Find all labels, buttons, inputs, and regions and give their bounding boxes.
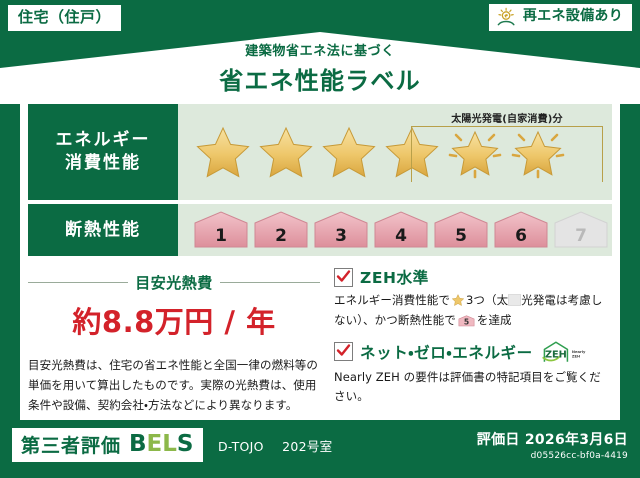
cost-heading: 目安光熱費	[135, 272, 213, 293]
svg-text:ZEH: ZEH	[572, 354, 580, 358]
star-2	[255, 121, 317, 183]
insulation-scale: 1 2 3	[178, 209, 610, 251]
net-zero-title: ネット・ゼロ・エネルギー	[360, 341, 533, 363]
check-icon	[336, 343, 351, 358]
cost-value: 約8.8万円 / 年	[28, 299, 320, 341]
room-number: 202号室	[282, 439, 332, 454]
bels-logo-s: S	[177, 431, 194, 457]
redacted-character	[508, 294, 521, 306]
insulation-level-2: 2	[252, 209, 310, 251]
insulation-row-body: 1 2 3	[178, 204, 612, 256]
insulation-level-4: 4	[372, 209, 430, 251]
insulation-level-1: 1	[192, 209, 250, 251]
star-5-solar	[444, 121, 506, 183]
energy-label-line2: 消費性能	[65, 152, 141, 175]
star-1	[192, 121, 254, 183]
net-zero-block: ネット・ゼロ・エネルギー ZEH Nearly ZEH Nearly ZEH の…	[334, 339, 612, 408]
net-zero-heading: ネット・ゼロ・エネルギー ZEH Nearly ZEH	[334, 339, 612, 365]
renewable-badge-label: 再エネ設備あり	[523, 9, 623, 24]
svg-text:Nearly: Nearly	[572, 349, 586, 353]
energy-row-label: エネルギー 消費性能	[28, 104, 178, 200]
star-4	[381, 121, 443, 183]
net-zero-checkbox[interactable]	[334, 342, 353, 361]
zeh-desc-stars: 3つ（太	[466, 293, 508, 307]
insulation-level-4-number: 4	[372, 226, 430, 246]
bels-logo: BELS	[129, 433, 193, 456]
cost-column: 目安光熱費 約8.8万円 / 年 目安光熱費は、住宅の省エネ性能と全国一律の燃料…	[28, 266, 326, 416]
star-icon	[192, 121, 254, 183]
title-block: 建築物省エネ法に基づく 省エネ性能ラベル	[0, 40, 640, 96]
insulation-level-7-number: 7	[552, 226, 610, 246]
zeh-level-checkbox[interactable]	[334, 268, 353, 287]
energy-row-body: 太陽光発電(自家消費)分	[178, 104, 612, 200]
zeh-desc-part3: を達成	[477, 313, 512, 327]
net-zero-description: Nearly ZEH の要件は評価書の特記項目をご覧ください。	[334, 368, 612, 408]
insulation-level-7: 7	[552, 209, 610, 251]
property-info: D-TOJO 202号室	[218, 436, 332, 455]
star-icon	[381, 121, 443, 183]
energy-label-document: 住宅（住戸） 再エネ設備あり 建築物省エネ法に基づく 省エネ性能ラベル	[0, 0, 640, 478]
insulation-level-6: 6	[492, 209, 550, 251]
inline-house-badge: 5	[458, 317, 475, 331]
evaluation-id: d05526cc-bf0a-4419	[477, 451, 628, 461]
page-title: 省エネ性能ラベル	[0, 61, 640, 96]
energy-label-line1: エネルギー	[56, 129, 151, 152]
footer-bar: 第三者評価 BELS D-TOJO 202号室 評価日 2026年3月6日 d0…	[0, 420, 640, 478]
evaluation-info: 評価日 2026年3月6日 d05526cc-bf0a-4419	[477, 429, 628, 461]
zeh-desc-part1: エネルギー消費性能で	[334, 293, 450, 307]
insulation-row-label: 断熱性能	[28, 204, 178, 256]
zeh-level-title: ZEH水準	[360, 266, 429, 288]
sun-icon-svg	[496, 7, 518, 27]
star-icon	[318, 121, 380, 183]
cost-heading-row: 目安光熱費	[28, 272, 320, 293]
svg-text:ZEH: ZEH	[545, 349, 567, 360]
svg-text:5: 5	[464, 317, 469, 326]
title-subtitle: 建築物省エネ法に基づく	[0, 40, 640, 59]
zeh-logo: ZEH Nearly ZEH	[540, 339, 586, 365]
star-rating	[178, 121, 569, 183]
zeh-column: ZEH水準 エネルギー消費性能で3つ（太光発電は考慮しない）、かつ断熱性能で5を…	[326, 266, 612, 416]
insulation-performance-row: 断熱性能 1	[28, 200, 612, 256]
insulation-level-3-number: 3	[312, 226, 370, 246]
star-solar-icon	[507, 121, 569, 183]
cost-rule-left	[28, 282, 128, 283]
inline-star-icon	[451, 293, 465, 307]
star-3	[318, 121, 380, 183]
insulation-level-5: 5	[432, 209, 490, 251]
details-section: 目安光熱費 約8.8万円 / 年 目安光熱費は、住宅の省エネ性能と全国一律の燃料…	[28, 266, 612, 416]
cost-disclaimer: 目安光熱費は、住宅の省エネ性能と全国一律の燃料等の単価を用いて算出したものです。…	[28, 355, 320, 415]
star-icon	[255, 121, 317, 183]
zeh-level-heading: ZEH水準	[334, 266, 612, 288]
property-name: D-TOJO	[218, 439, 264, 454]
renewable-equipment-badge: 再エネ設備あり	[489, 4, 632, 31]
insulation-level-3: 3	[312, 209, 370, 251]
zeh-level-block: ZEH水準 エネルギー消費性能で3つ（太光発電は考慮しない）、かつ断熱性能で5を…	[334, 266, 612, 335]
zeh-logo-icon: ZEH Nearly ZEH	[540, 339, 586, 365]
bels-jp-label: 第三者評価	[21, 431, 121, 458]
inline-house-icon: 5	[458, 314, 475, 328]
energy-performance-row: エネルギー 消費性能	[28, 98, 612, 200]
bels-logo-el: EL	[147, 431, 177, 457]
house-type-badge: 住宅（住戸）	[8, 5, 121, 31]
check-icon	[336, 269, 351, 284]
cost-rule-right	[220, 282, 320, 283]
sun-icon	[496, 7, 518, 27]
star-solar-icon	[444, 121, 506, 183]
evaluation-date: 評価日 2026年3月6日	[477, 429, 628, 449]
bels-badge: 第三者評価 BELS	[12, 428, 203, 462]
insulation-level-6-number: 6	[492, 226, 550, 246]
insulation-level-1-number: 1	[192, 226, 250, 246]
star-6-solar	[507, 121, 569, 183]
label-card: エネルギー 消費性能	[20, 98, 620, 420]
insulation-level-5-number: 5	[432, 226, 490, 246]
insulation-level-2-number: 2	[252, 226, 310, 246]
insulation-label-text: 断熱性能	[65, 219, 141, 242]
zeh-level-description: エネルギー消費性能で3つ（太光発電は考慮しない）、かつ断熱性能で5を達成	[334, 291, 612, 335]
bels-logo-b: B	[129, 431, 147, 457]
